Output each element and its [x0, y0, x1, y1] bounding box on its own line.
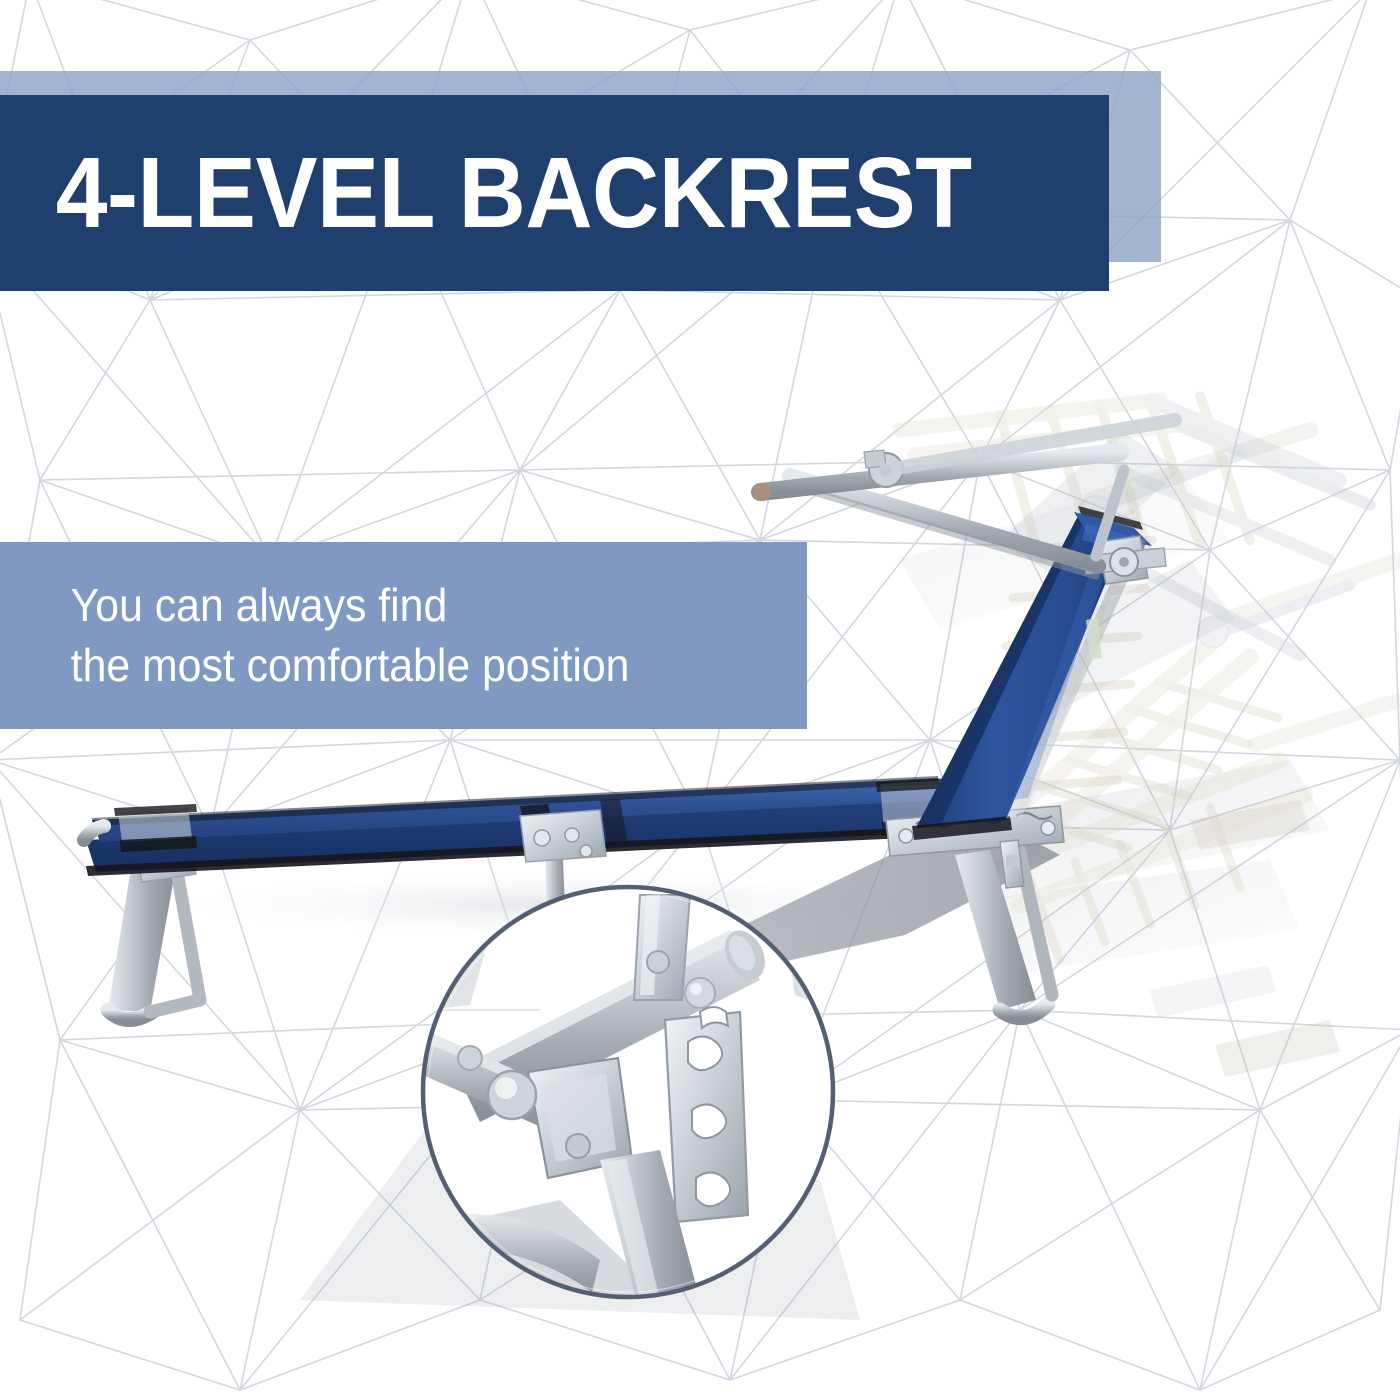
title-banner: 4-LEVEL BACKREST	[0, 95, 1109, 291]
page-title: 4-LEVEL BACKREST	[0, 143, 972, 243]
subtitle-line-2: the most comfortable position	[0, 636, 751, 696]
subtitle-block: You can always find the most comfortable…	[0, 542, 807, 729]
product-marketing-canvas: 4-LEVEL BACKREST You can always find the…	[0, 0, 1400, 1400]
subtitle-line-1: You can always find	[0, 576, 751, 636]
